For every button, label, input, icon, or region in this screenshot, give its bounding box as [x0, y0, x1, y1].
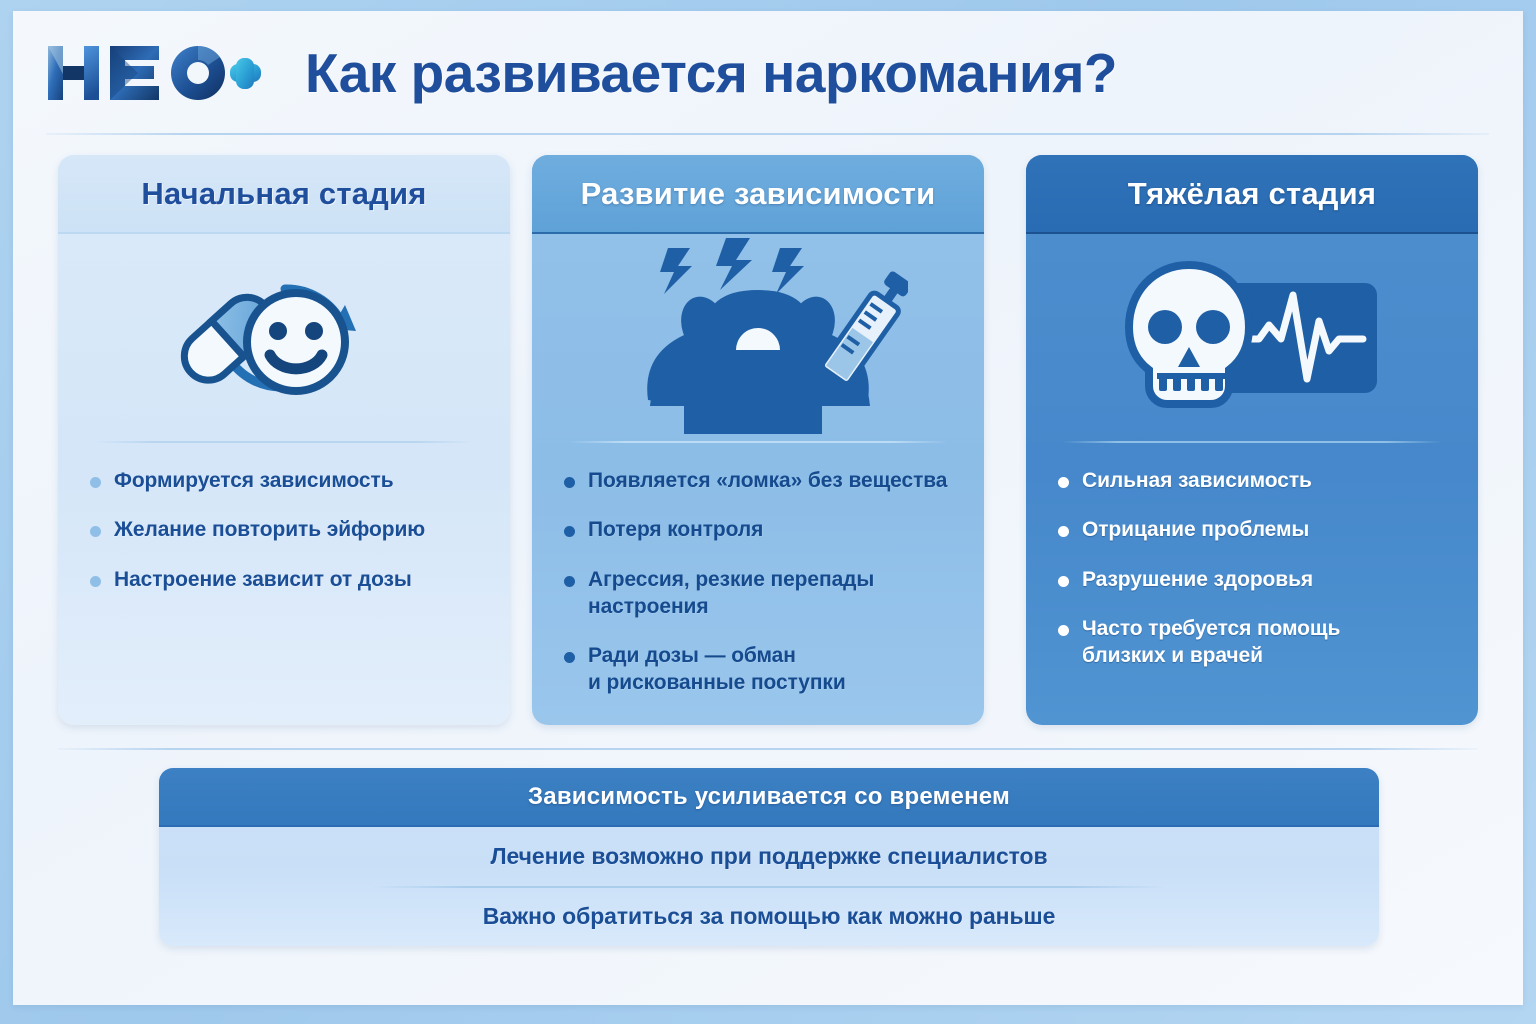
stage-bullet-list: Сильная зависимость Отрицание проблемы Р… — [1026, 443, 1478, 725]
summary-line-1: Лечение возможно при поддержке специалис… — [159, 827, 1379, 886]
bullet-text: Ради дозы — обман и рискованные поступки — [588, 642, 846, 697]
content-panel: Как развивается наркомания? Начальная ст… — [13, 11, 1523, 1005]
list-item: Потеря контроля — [564, 516, 958, 543]
summary-headline-band: Зависимость усиливается со временем — [159, 768, 1379, 827]
bullet-dot-icon — [564, 576, 575, 587]
pill-smiley-cycle-icon — [58, 234, 510, 441]
list-item: Часто требуется помощь близких и врачей — [1058, 615, 1452, 670]
bullet-dot-icon — [1058, 477, 1069, 488]
stage-card-header: Тяжёлая стадия — [1026, 155, 1478, 234]
bullet-text: Отрицание проблемы — [1082, 516, 1309, 543]
stage-title: Развитие зависимости — [581, 176, 936, 212]
stage-card-header: Начальная стадия — [58, 155, 510, 234]
stage-bullet-list: Формируется зависимость Желание повторит… — [58, 443, 510, 725]
summary-line-2: Важно обратиться за помощью как можно ра… — [159, 888, 1379, 947]
list-item: Настроение зависит от дозы — [90, 566, 484, 593]
list-item: Ради дозы — обман и рискованные поступки — [564, 642, 958, 697]
stage-card-header: Развитие зависимости — [532, 155, 984, 234]
summary-headline: Зависимость усиливается со временем — [528, 783, 1010, 811]
bullet-dot-icon — [564, 652, 575, 663]
header: Как развивается наркомания? — [13, 11, 1523, 135]
bullet-text: Потеря контроля — [588, 516, 763, 543]
summary-panel: Зависимость усиливается со временем Лече… — [159, 768, 1379, 946]
page-title: Как развивается наркомания? — [305, 42, 1117, 104]
summary-line-1-text: Лечение возможно при поддержке специалис… — [490, 843, 1047, 870]
list-item: Появляется «ломка» без вещества — [564, 467, 958, 494]
bullet-dot-icon — [564, 526, 575, 537]
brand-logo — [46, 42, 261, 104]
stressed-person-syringe-icon — [532, 234, 984, 441]
neo-plus-logo-icon — [46, 42, 261, 104]
bullet-text: Появляется «ломка» без вещества — [588, 467, 947, 494]
header-divider — [46, 133, 1489, 135]
stage-title: Тяжёлая стадия — [1128, 176, 1376, 212]
bullet-text: Настроение зависит от дозы — [114, 566, 412, 593]
list-item: Сильная зависимость — [1058, 467, 1452, 494]
bullet-dot-icon — [564, 477, 575, 488]
list-item: Разрушение здоровья — [1058, 566, 1452, 593]
bullet-dot-icon — [1058, 526, 1069, 537]
skull-ecg-icon — [1026, 234, 1478, 441]
list-item: Отрицание проблемы — [1058, 516, 1452, 543]
bullet-dot-icon — [90, 526, 101, 537]
stages-row: Начальная стадия — [13, 155, 1523, 730]
list-item: Агрессия, резкие перепады настроения — [564, 566, 958, 621]
bullet-dot-icon — [90, 576, 101, 587]
summary-line-2-text: Важно обратиться за помощью как можно ра… — [483, 903, 1056, 930]
stage-title: Начальная стадия — [141, 176, 426, 212]
stage-card-severe[interactable]: Тяжёлая стадия — [1026, 155, 1478, 725]
bullet-text: Формируется зависимость — [114, 467, 394, 494]
stage-card-development[interactable]: Развитие зависимости — [532, 155, 984, 725]
infographic-canvas: Как развивается наркомания? Начальная ст… — [0, 0, 1536, 1024]
list-item: Формируется зависимость — [90, 467, 484, 494]
stage-card-initial[interactable]: Начальная стадия — [58, 155, 510, 725]
bullet-text: Часто требуется помощь близких и врачей — [1082, 615, 1340, 670]
bullet-text: Агрессия, резкие перепады настроения — [588, 566, 958, 621]
bullet-text: Разрушение здоровья — [1082, 566, 1313, 593]
list-item: Желание повторить эйфорию — [90, 516, 484, 543]
bullet-text: Сильная зависимость — [1082, 467, 1312, 494]
bullet-dot-icon — [90, 477, 101, 488]
bullet-text: Желание повторить эйфорию — [114, 516, 425, 543]
bullet-dot-icon — [1058, 625, 1069, 636]
bullet-dot-icon — [1058, 576, 1069, 587]
section-divider — [58, 748, 1478, 750]
stage-bullet-list: Появляется «ломка» без вещества Потеря к… — [532, 443, 984, 725]
